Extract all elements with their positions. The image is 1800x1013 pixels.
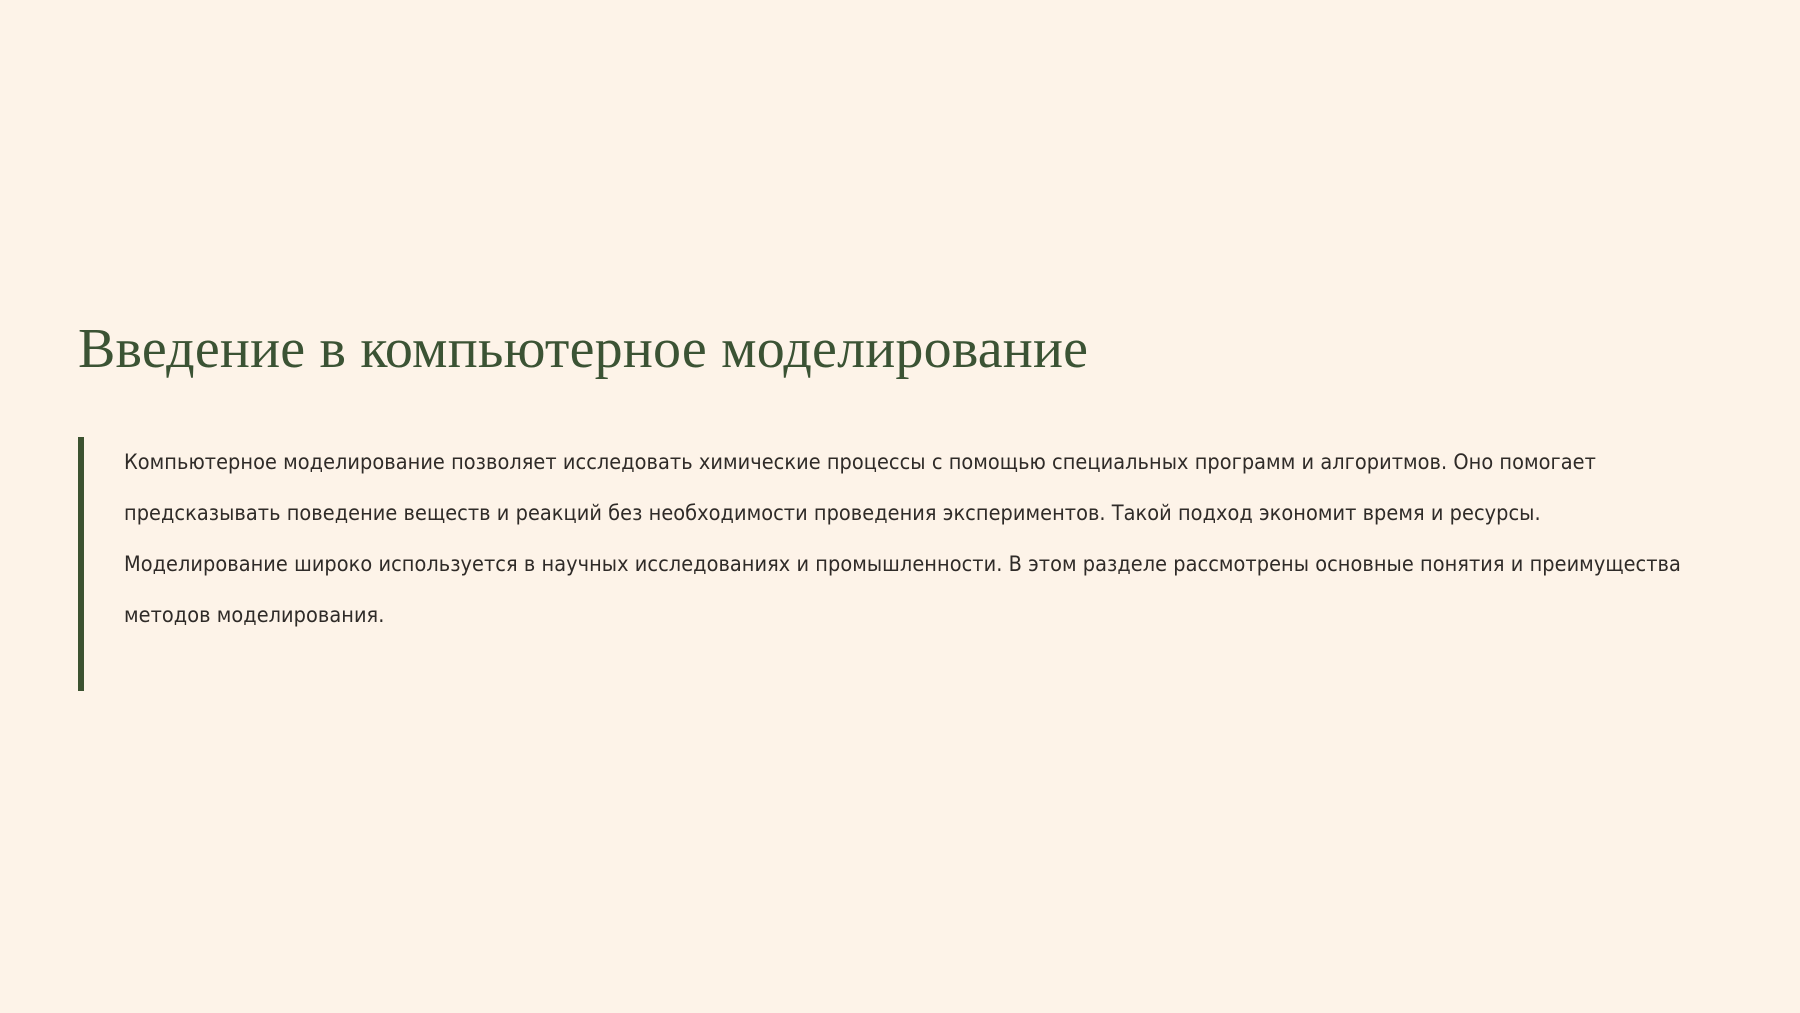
body-paragraph: Компьютерное моделирование позволяет исс… bbox=[84, 437, 1698, 691]
page-title: Введение в компьютерное моделирование bbox=[78, 318, 1088, 381]
body-callout: Компьютерное моделирование позволяет исс… bbox=[78, 437, 1698, 691]
slide-root: Введение в компьютерное моделирование Ко… bbox=[0, 0, 1800, 1013]
